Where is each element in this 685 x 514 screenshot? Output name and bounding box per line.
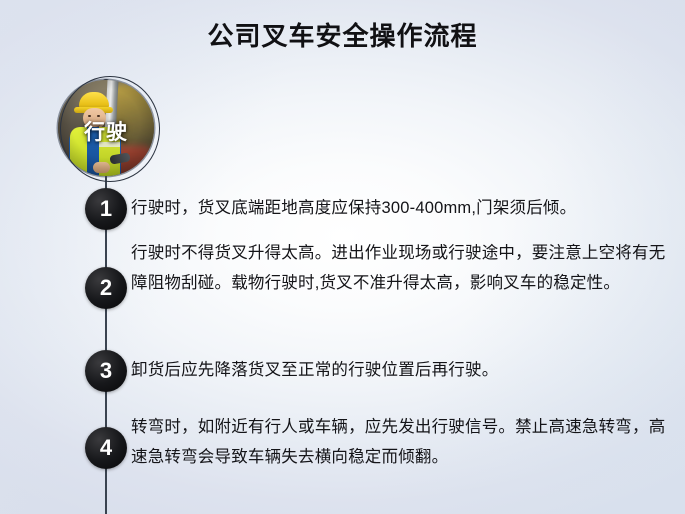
medallion-label: 行驶	[58, 116, 154, 146]
step-number-badge: 4	[85, 427, 127, 469]
step-text: 行驶时不得货叉升得太高。进出作业现场或行驶途中，要注意上空将有无障阻物刮碰。载物…	[131, 238, 671, 298]
medallion: 行驶	[58, 80, 156, 178]
slide-canvas: 公司叉车安全操作流程 行驶 1 行驶时，货叉底端距地高度应保持300-4	[0, 0, 685, 514]
step-number-badge: 2	[85, 267, 127, 309]
step-number-badge: 1	[85, 188, 127, 230]
step-number-badge: 3	[85, 350, 127, 392]
step-text: 转弯时，如附近有行人或车辆，应先发出行驶信号。禁止高速急转弯，高速急转弯会导致车…	[131, 412, 671, 472]
page-title: 公司叉车安全操作流程	[0, 16, 685, 53]
step-text: 行驶时，货叉底端距地高度应保持300-400mm,门架须后倾。	[131, 193, 671, 223]
step-text: 卸货后应先降落货叉至正常的行驶位置后再行驶。	[131, 355, 671, 385]
